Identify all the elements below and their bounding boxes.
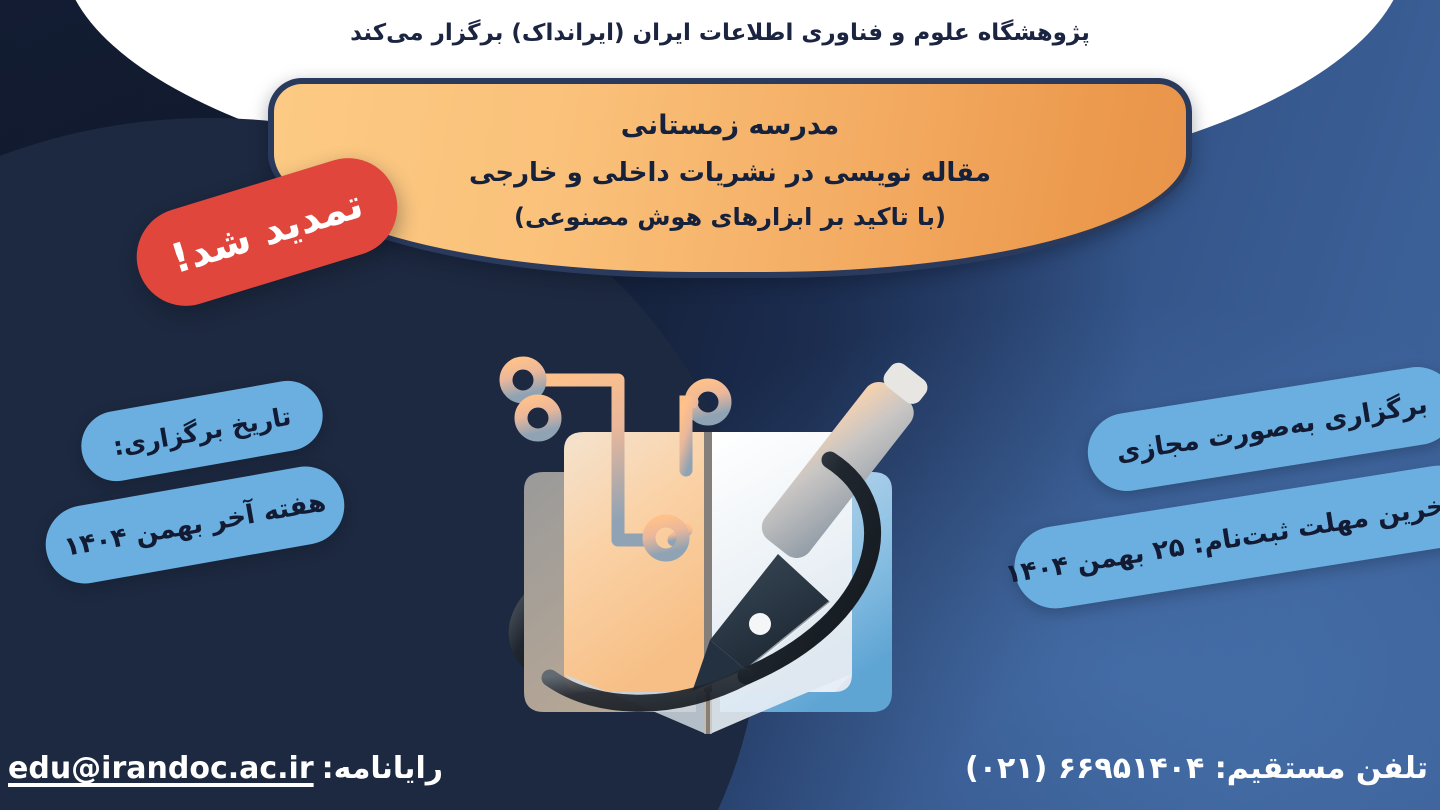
event-poster: پژوهشگاه علوم و فناوری اطلاعات ایران (ای… xyxy=(0,0,1440,810)
title-line-1: مدرسه زمستانی xyxy=(621,110,840,142)
phone-contact: تلفن مستقیم: ۶۶۹۵۱۴۰۴ (۰۲۱) xyxy=(965,751,1428,786)
date-label-text: تاریخ برگزاری: xyxy=(111,401,293,461)
email-label: رایانامه: xyxy=(322,751,443,786)
email-address[interactable]: edu@irandoc.ac.ir xyxy=(8,751,314,786)
email-contact[interactable]: رایانامه: edu@irandoc.ac.ir xyxy=(8,751,443,786)
title-line-2: مقاله نویسی در نشریات داخلی و خارجی xyxy=(469,158,991,189)
open-book-with-pen-and-circuit-icon xyxy=(478,340,938,760)
title-line-3: (با تاکید بر ابزارهای هوش مصنوعی) xyxy=(514,203,946,231)
organizer-line: پژوهشگاه علوم و فناوری اطلاعات ایران (ای… xyxy=(0,20,1440,46)
